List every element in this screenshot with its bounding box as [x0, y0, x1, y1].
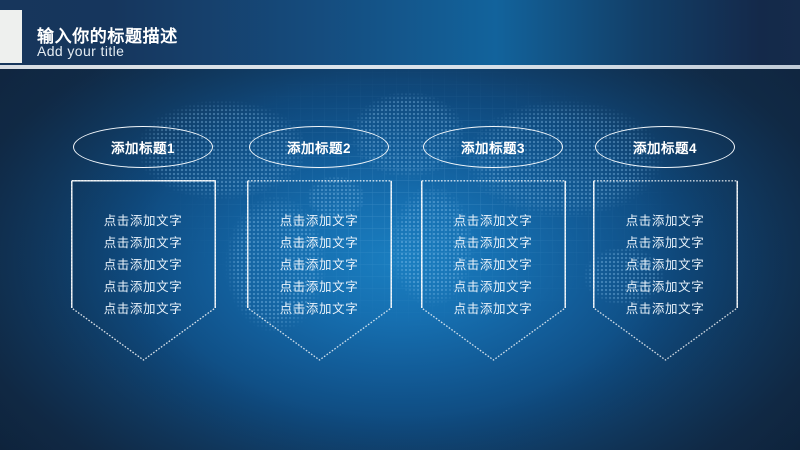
- list-item: 点击添加文字: [405, 276, 581, 298]
- list-item: 点击添加文字: [231, 254, 407, 276]
- column-text-list: 点击添加文字 点击添加文字 点击添加文字 点击添加文字 点击添加文字: [55, 210, 231, 320]
- column-group: 添加标题1 点击添加文字 点击添加文字 点击添加文字 点击添加文字 点击添加文字…: [0, 0, 800, 450]
- list-item: 点击添加文字: [577, 276, 753, 298]
- column-title-label: 添加标题3: [461, 137, 525, 157]
- list-item: 点击添加文字: [405, 298, 581, 320]
- list-item: 点击添加文字: [231, 276, 407, 298]
- list-item: 点击添加文字: [577, 254, 753, 276]
- list-item: 点击添加文字: [231, 298, 407, 320]
- list-item: 点击添加文字: [577, 298, 753, 320]
- list-item: 点击添加文字: [55, 298, 231, 320]
- column-text-list: 点击添加文字 点击添加文字 点击添加文字 点击添加文字 点击添加文字: [405, 210, 581, 320]
- column-title-pill[interactable]: 添加标题4: [595, 126, 735, 168]
- list-item: 点击添加文字: [577, 232, 753, 254]
- column-title-pill[interactable]: 添加标题2: [249, 126, 389, 168]
- list-item: 点击添加文字: [55, 254, 231, 276]
- slide-canvas: 输入你的标题描述 Add your title 添加标题1 点击添加文字 点击添…: [0, 0, 800, 450]
- column-title-label: 添加标题1: [111, 137, 175, 157]
- column-title-label: 添加标题4: [633, 137, 697, 157]
- column-title-label: 添加标题2: [287, 137, 351, 157]
- list-item: 点击添加文字: [405, 210, 581, 232]
- column-title-pill[interactable]: 添加标题3: [423, 126, 563, 168]
- list-item: 点击添加文字: [231, 232, 407, 254]
- list-item: 点击添加文字: [405, 232, 581, 254]
- column-title-pill[interactable]: 添加标题1: [73, 126, 213, 168]
- list-item: 点击添加文字: [55, 210, 231, 232]
- column-text-list: 点击添加文字 点击添加文字 点击添加文字 点击添加文字 点击添加文字: [577, 210, 753, 320]
- list-item: 点击添加文字: [405, 254, 581, 276]
- list-item: 点击添加文字: [55, 276, 231, 298]
- list-item: 点击添加文字: [577, 210, 753, 232]
- list-item: 点击添加文字: [231, 210, 407, 232]
- list-item: 点击添加文字: [55, 232, 231, 254]
- column-text-list: 点击添加文字 点击添加文字 点击添加文字 点击添加文字 点击添加文字: [231, 210, 407, 320]
